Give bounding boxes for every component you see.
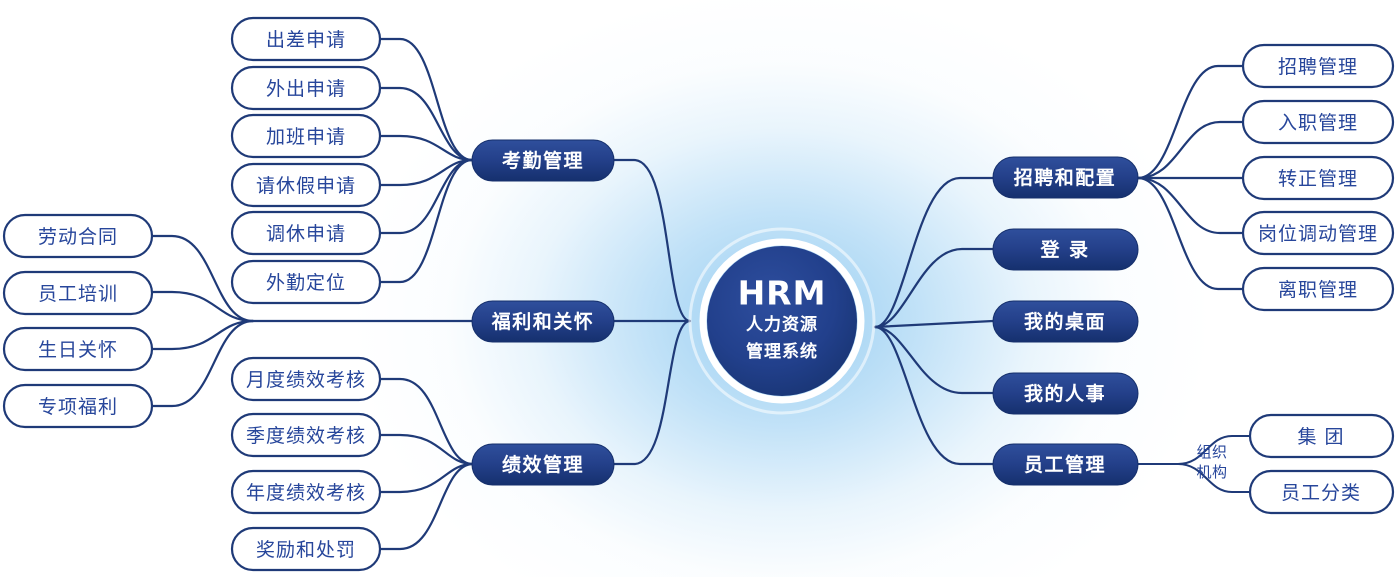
- mindmap-canvas: 组织 机构 HRM 人力资源 管理系统 出差申请 外出申请 加班申请 请休假申请: [0, 0, 1400, 577]
- node-label: 考勤管理: [502, 149, 584, 172]
- node-branch-desktop[interactable]: 我的桌面: [993, 301, 1138, 342]
- node-label: 劳动合同: [38, 226, 118, 248]
- node-label: 岗位调动管理: [1258, 223, 1378, 245]
- node-label: 员工分类: [1281, 482, 1361, 504]
- node-label: 福利和关怀: [491, 310, 595, 333]
- node-attendance-child-4[interactable]: 调休申请: [232, 212, 380, 254]
- node-label: 月度绩效考核: [246, 369, 366, 391]
- node-welfare-child-2[interactable]: 生日关怀: [4, 328, 152, 370]
- hub-subtitle-line2: 管理系统: [746, 341, 818, 362]
- node-label: 招聘和配置: [1014, 166, 1117, 189]
- node-attendance-child-2[interactable]: 加班申请: [232, 115, 380, 157]
- node-branch-employee[interactable]: 员工管理: [993, 444, 1138, 485]
- node-performance-child-0[interactable]: 月度绩效考核: [232, 358, 380, 400]
- node-label: 季度绩效考核: [246, 425, 366, 447]
- mindmap-svg: 组织 机构 HRM 人力资源 管理系统 出差申请 外出申请 加班申请 请休假申请: [0, 0, 1400, 577]
- node-recruit-child-3[interactable]: 岗位调动管理: [1243, 212, 1393, 254]
- node-welfare-child-1[interactable]: 员工培训: [4, 272, 152, 314]
- node-recruit-child-1[interactable]: 入职管理: [1243, 101, 1393, 143]
- center-hub[interactable]: HRM 人力资源 管理系统: [690, 229, 874, 413]
- node-recruit-child-0[interactable]: 招聘管理: [1243, 45, 1393, 87]
- node-label: 外出申请: [266, 78, 346, 100]
- node-recruit-child-4[interactable]: 离职管理: [1243, 268, 1393, 310]
- edges-right-main: [875, 178, 993, 464]
- edge-label-org-line1: 组织: [1196, 443, 1227, 461]
- node-label: 请休假申请: [256, 175, 356, 197]
- node-label: 集 团: [1297, 426, 1344, 448]
- node-label: 入职管理: [1278, 112, 1358, 134]
- edge-label-org-line2: 机构: [1196, 463, 1227, 481]
- node-attendance-child-1[interactable]: 外出申请: [232, 67, 380, 109]
- node-label: 出差申请: [266, 29, 346, 51]
- node-branch-attendance[interactable]: 考勤管理: [472, 140, 614, 181]
- node-label: 奖励和处罚: [256, 539, 356, 561]
- node-label: 我的桌面: [1024, 310, 1106, 333]
- node-employee-child-1[interactable]: 员工分类: [1250, 471, 1393, 513]
- node-performance-child-1[interactable]: 季度绩效考核: [232, 414, 380, 456]
- node-label: 绩效管理: [502, 453, 584, 476]
- node-label: 转正管理: [1278, 168, 1358, 190]
- node-label: 年度绩效考核: [246, 482, 366, 504]
- hub-title: HRM: [738, 274, 827, 313]
- hub-subtitle-line1: 人力资源: [746, 314, 818, 335]
- node-branch-welfare[interactable]: 福利和关怀: [472, 301, 614, 342]
- node-label: 招聘管理: [1278, 56, 1358, 78]
- node-label: 我的人事: [1024, 382, 1106, 405]
- node-employee-child-0[interactable]: 集 团: [1250, 415, 1393, 457]
- node-label: 加班申请: [266, 126, 346, 148]
- edges-employee-org: 组织 机构: [1138, 436, 1250, 492]
- node-label: 员工管理: [1024, 453, 1106, 476]
- node-performance-child-3[interactable]: 奖励和处罚: [232, 528, 380, 570]
- node-branch-login[interactable]: 登 录: [993, 229, 1138, 270]
- node-label: 登 录: [1039, 238, 1089, 261]
- node-attendance-child-3[interactable]: 请休假申请: [232, 164, 380, 206]
- node-welfare-child-0[interactable]: 劳动合同: [4, 215, 152, 257]
- edges-attendance: [380, 39, 472, 282]
- node-recruit-child-2[interactable]: 转正管理: [1243, 157, 1393, 199]
- edges-recruitment: [1138, 66, 1243, 289]
- node-label: 生日关怀: [38, 339, 118, 361]
- node-label: 外勤定位: [266, 272, 346, 294]
- node-label: 离职管理: [1278, 279, 1358, 301]
- node-label: 调休申请: [266, 223, 346, 245]
- node-branch-recruit[interactable]: 招聘和配置: [993, 157, 1138, 198]
- node-label: 员工培训: [38, 283, 118, 305]
- node-branch-myhr[interactable]: 我的人事: [993, 373, 1138, 414]
- node-label: 专项福利: [38, 396, 118, 418]
- node-branch-performance[interactable]: 绩效管理: [472, 444, 614, 485]
- node-attendance-child-0[interactable]: 出差申请: [232, 18, 380, 60]
- node-welfare-child-3[interactable]: 专项福利: [4, 385, 152, 427]
- edges-left-main: [614, 160, 690, 464]
- node-attendance-child-5[interactable]: 外勤定位: [232, 261, 380, 303]
- edges-performance: [380, 379, 473, 549]
- node-performance-child-2[interactable]: 年度绩效考核: [232, 471, 380, 513]
